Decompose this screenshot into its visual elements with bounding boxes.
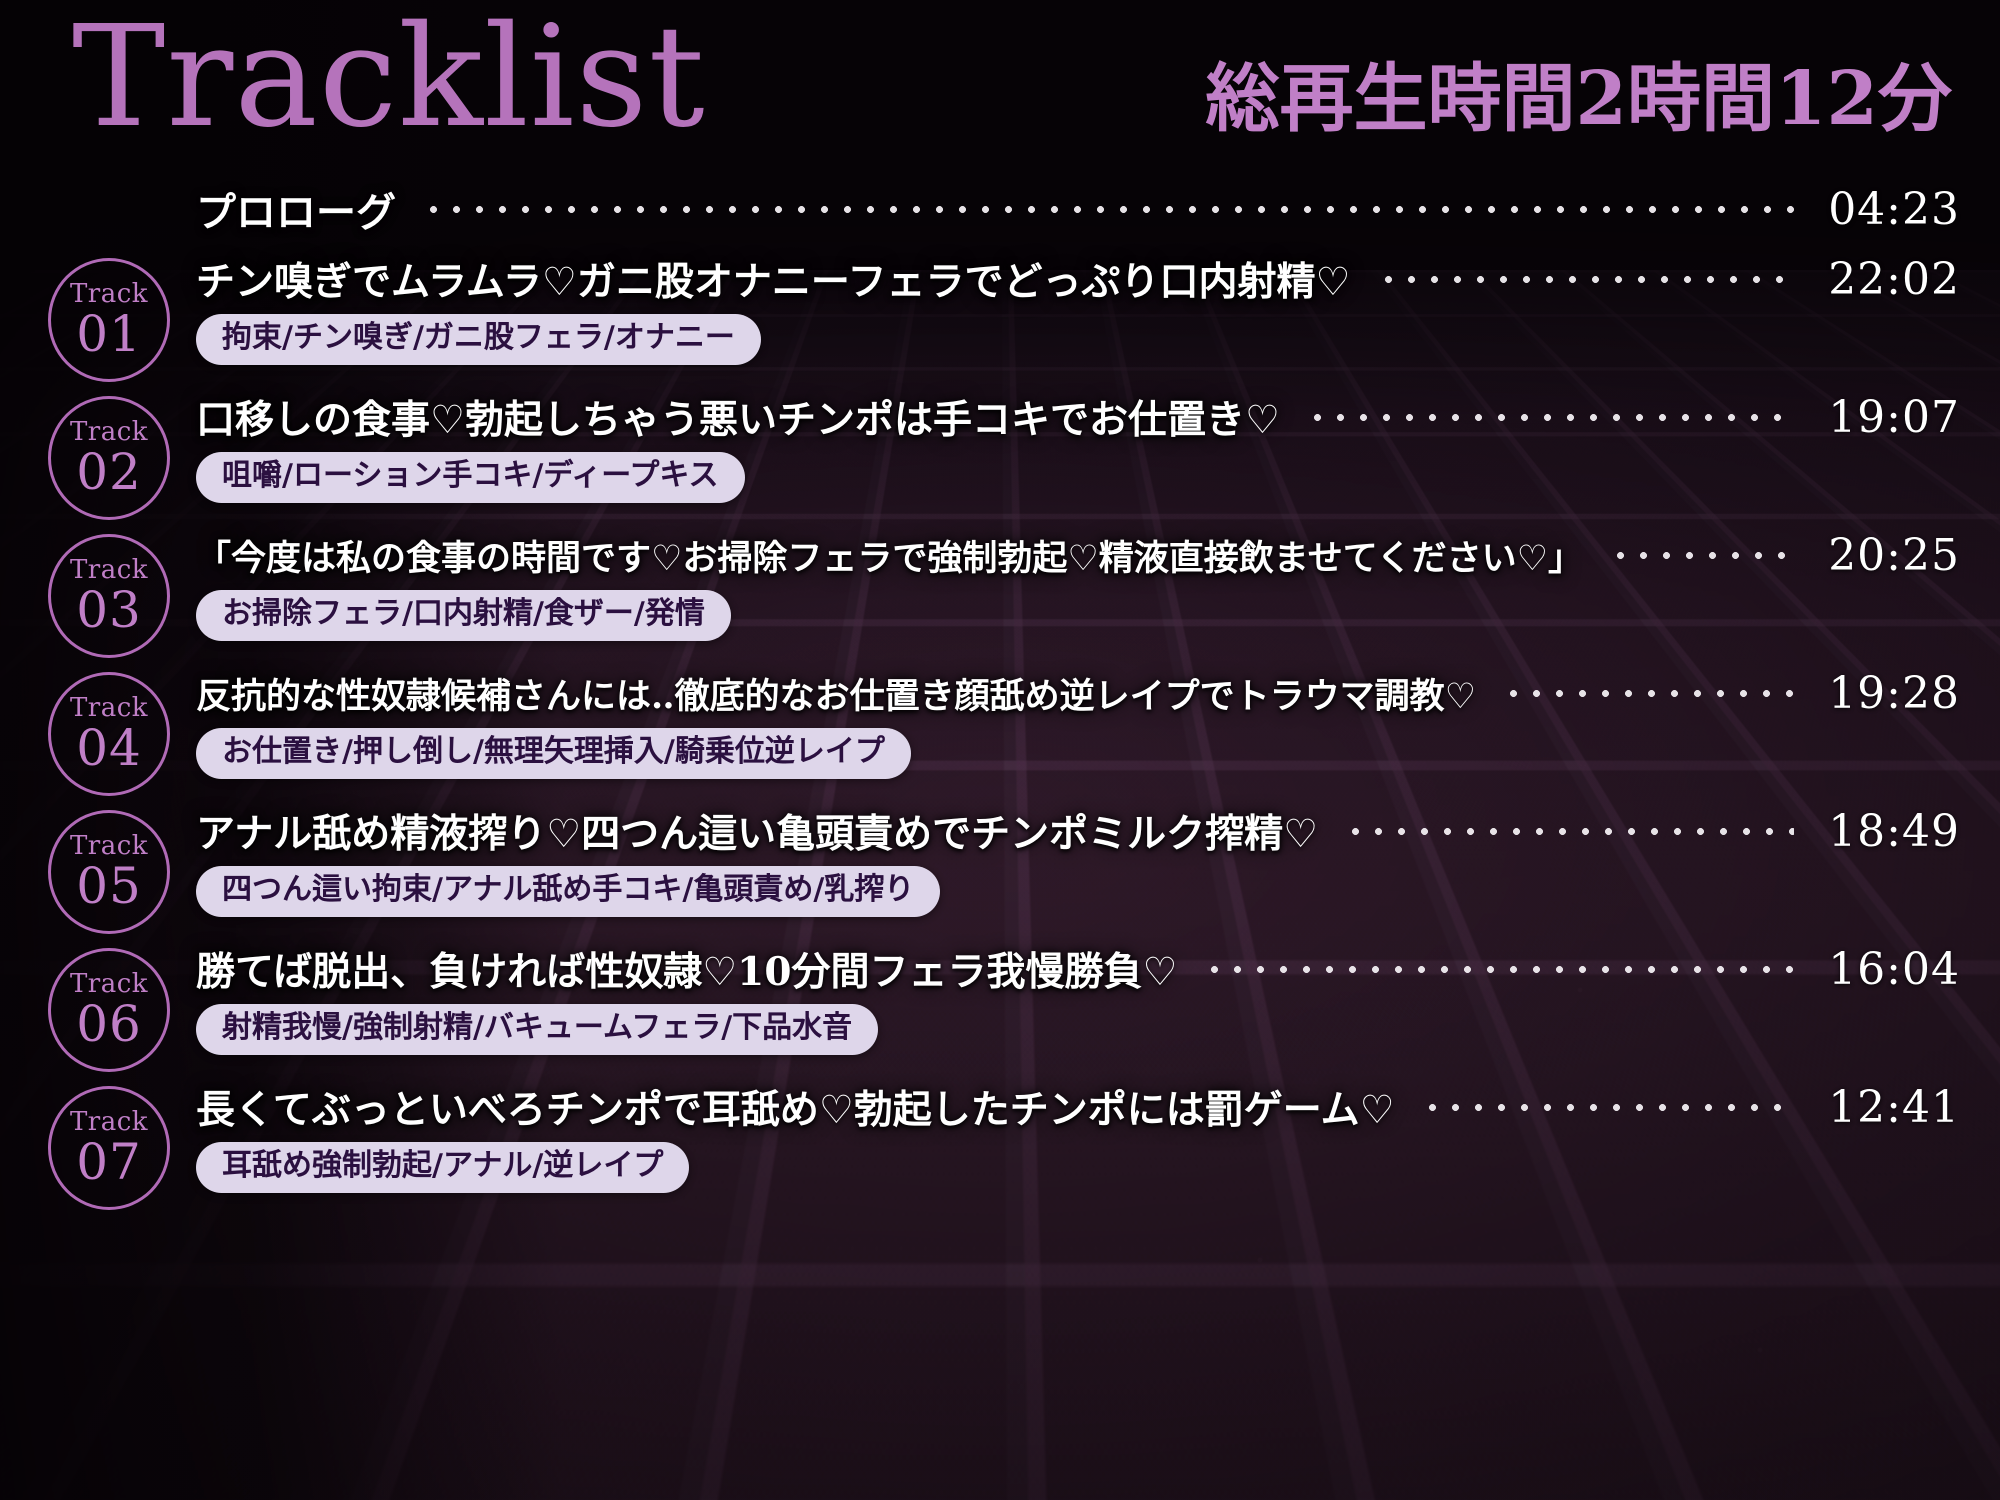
track-tags: お掃除フェラ/口内射精/食ザー/発情 bbox=[196, 590, 1960, 641]
tag-pill: 射精我慢/強制射精/バキュームフェラ/下品水音 bbox=[196, 1004, 878, 1055]
track-badge-word: Track bbox=[70, 695, 148, 721]
track-time: 19:28 bbox=[1810, 668, 1960, 719]
track-title: チン嗅ぎでムラムラ♡ガニ股オナニーフェラでどっぷり口内射精♡ bbox=[196, 251, 1351, 307]
tag-pill: 四つん這い拘束/アナル舐め手コキ/亀頭責め/乳搾り bbox=[196, 866, 940, 917]
track-title-line: 口移しの食事♡勃起しちゃう悪いチンポは手コキでお仕置き♡ 19:07 bbox=[196, 386, 1960, 448]
track-badge-number: 03 bbox=[76, 585, 142, 635]
tracklist-page: Tracklist 総再生時間2時間12分 プロローグ 04:23 Track … bbox=[0, 0, 2000, 1500]
track-title-line: 長くてぶっといべろチンポで耳舐め♡勃起したチンポには罰ゲーム♡ 12:41 bbox=[196, 1076, 1960, 1138]
tag-pill: 拘束/チン嗅ぎ/ガニ股フェラ/オナニー bbox=[196, 314, 761, 365]
track-row: Track 05 アナル舐め精液搾り♡四つん這い亀頭責めでチンポミルク搾精♡ 1… bbox=[0, 800, 2000, 938]
dot-leader bbox=[1344, 811, 1794, 851]
prologue-label: プロローグ bbox=[196, 180, 396, 238]
dot-leader bbox=[1306, 397, 1794, 437]
dot-leader bbox=[1502, 673, 1794, 713]
track-row: Track 07 長くてぶっといべろチンポで耳舐め♡勃起したチンポには罰ゲーム♡… bbox=[0, 1076, 2000, 1214]
track-badge: Track 02 bbox=[48, 396, 170, 520]
track-badge: Track 04 bbox=[48, 672, 170, 796]
track-badge-number: 05 bbox=[76, 861, 142, 911]
track-tags: 拘束/チン嗅ぎ/ガニ股フェラ/オナニー bbox=[196, 314, 1960, 365]
track-tags: お仕置き/押し倒し/無理矢理挿入/騎乗位逆レイプ bbox=[196, 728, 1960, 779]
track-badge: Track 03 bbox=[48, 534, 170, 658]
track-title-line: チン嗅ぎでムラムラ♡ガニ股オナニーフェラでどっぷり口内射精♡ 22:02 bbox=[196, 248, 1960, 310]
tag-pill: 耳舐め強制勃起/アナル/逆レイプ bbox=[196, 1142, 689, 1193]
track-title: 勝てば脱出、負ければ性奴隷♡10分間フェラ我慢勝負♡ bbox=[196, 941, 1177, 997]
track-tags: 射精我慢/強制射精/バキュームフェラ/下品水音 bbox=[196, 1004, 1960, 1055]
track-row: Track 02 口移しの食事♡勃起しちゃう悪いチンポは手コキでお仕置き♡ 19… bbox=[0, 386, 2000, 524]
track-badge-number: 04 bbox=[76, 723, 142, 773]
track-tags: 四つん這い拘束/アナル舐め手コキ/亀頭責め/乳搾り bbox=[196, 866, 1960, 917]
track-time: 16:04 bbox=[1810, 944, 1960, 995]
track-title-line: アナル舐め精液搾り♡四つん這い亀頭責めでチンポミルク搾精♡ 18:49 bbox=[196, 800, 1960, 862]
track-title-line: 「今度は私の食事の時間です♡お掃除フェラで強制勃起♡精液直接飲ませてください♡」… bbox=[196, 524, 1960, 586]
track-time: 22:02 bbox=[1810, 254, 1960, 305]
track-time: 18:49 bbox=[1810, 806, 1960, 857]
track-title: 反抗的な性奴隷候補さんには‥徹底的なお仕置き顔舐め逆レイプでトラウマ調教♡ bbox=[196, 668, 1476, 719]
track-badge-word: Track bbox=[70, 971, 148, 997]
track-badge: Track 01 bbox=[48, 258, 170, 382]
dot-leader bbox=[1421, 1087, 1794, 1127]
track-title: アナル舐め精液搾り♡四つん這い亀頭責めでチンポミルク搾精♡ bbox=[196, 803, 1318, 859]
dot-leader bbox=[1377, 259, 1794, 299]
track-badge-word: Track bbox=[70, 1109, 148, 1135]
dot-leader bbox=[1203, 949, 1794, 989]
track-time: 12:41 bbox=[1810, 1082, 1960, 1133]
track-tags: 耳舐め強制勃起/アナル/逆レイプ bbox=[196, 1142, 1960, 1193]
track-badge-word: Track bbox=[70, 419, 148, 445]
track-title-line: 反抗的な性奴隷候補さんには‥徹底的なお仕置き顔舐め逆レイプでトラウマ調教♡ 19… bbox=[196, 662, 1960, 724]
track-title: 長くてぶっといべろチンポで耳舐め♡勃起したチンポには罰ゲーム♡ bbox=[196, 1079, 1395, 1135]
track-tags: 咀嚼/ローション手コキ/ディープキス bbox=[196, 452, 1960, 503]
track-title: 口移しの食事♡勃起しちゃう悪いチンポは手コキでお仕置き♡ bbox=[196, 389, 1280, 445]
track-row: Track 01 チン嗅ぎでムラムラ♡ガニ股オナニーフェラでどっぷり口内射精♡ … bbox=[0, 248, 2000, 386]
dot-leader bbox=[1609, 535, 1794, 575]
track-title-line: 勝てば脱出、負ければ性奴隷♡10分間フェラ我慢勝負♡ 16:04 bbox=[196, 938, 1960, 1000]
track-badge: Track 05 bbox=[48, 810, 170, 934]
track-badge: Track 07 bbox=[48, 1086, 170, 1210]
track-badge-number: 01 bbox=[76, 309, 142, 359]
track-badge-word: Track bbox=[70, 281, 148, 307]
content-layer: Tracklist 総再生時間2時間12分 プロローグ 04:23 Track … bbox=[0, 0, 2000, 1500]
track-badge-word: Track bbox=[70, 557, 148, 583]
track-badge-number: 02 bbox=[76, 447, 142, 497]
track-time: 20:25 bbox=[1810, 530, 1960, 581]
track-badge-word: Track bbox=[70, 833, 148, 859]
track-row: Track 03 「今度は私の食事の時間です♡お掃除フェラで強制勃起♡精液直接飲… bbox=[0, 524, 2000, 662]
track-rows: プロローグ 04:23 Track 01 チン嗅ぎでムラムラ♡ガニ股オナニーフェ… bbox=[0, 176, 2000, 1500]
prologue-time: 04:23 bbox=[1810, 184, 1960, 235]
dot-leader bbox=[422, 189, 1794, 229]
track-time: 19:07 bbox=[1810, 392, 1960, 443]
track-title: 「今度は私の食事の時間です♡お掃除フェラで強制勃起♡精液直接飲ませてください♡」 bbox=[196, 530, 1583, 581]
tag-pill: 咀嚼/ローション手コキ/ディープキス bbox=[196, 452, 745, 503]
track-row: Track 04 反抗的な性奴隷候補さんには‥徹底的なお仕置き顔舐め逆レイプでト… bbox=[0, 662, 2000, 800]
tag-pill: お掃除フェラ/口内射精/食ザー/発情 bbox=[196, 590, 731, 641]
prologue-row: プロローグ 04:23 bbox=[0, 176, 2000, 242]
page-title: Tracklist bbox=[72, 8, 706, 148]
total-playtime-label: 総再生時間2時間12分 bbox=[1206, 62, 1952, 136]
tag-pill: お仕置き/押し倒し/無理矢理挿入/騎乗位逆レイプ bbox=[196, 728, 911, 779]
track-row: Track 06 勝てば脱出、負ければ性奴隷♡10分間フェラ我慢勝負♡ 16:0… bbox=[0, 938, 2000, 1076]
track-badge-number: 07 bbox=[76, 1137, 142, 1187]
track-badge-number: 06 bbox=[76, 999, 142, 1049]
header: Tracklist 総再生時間2時間12分 bbox=[0, 0, 2000, 170]
track-badge: Track 06 bbox=[48, 948, 170, 1072]
